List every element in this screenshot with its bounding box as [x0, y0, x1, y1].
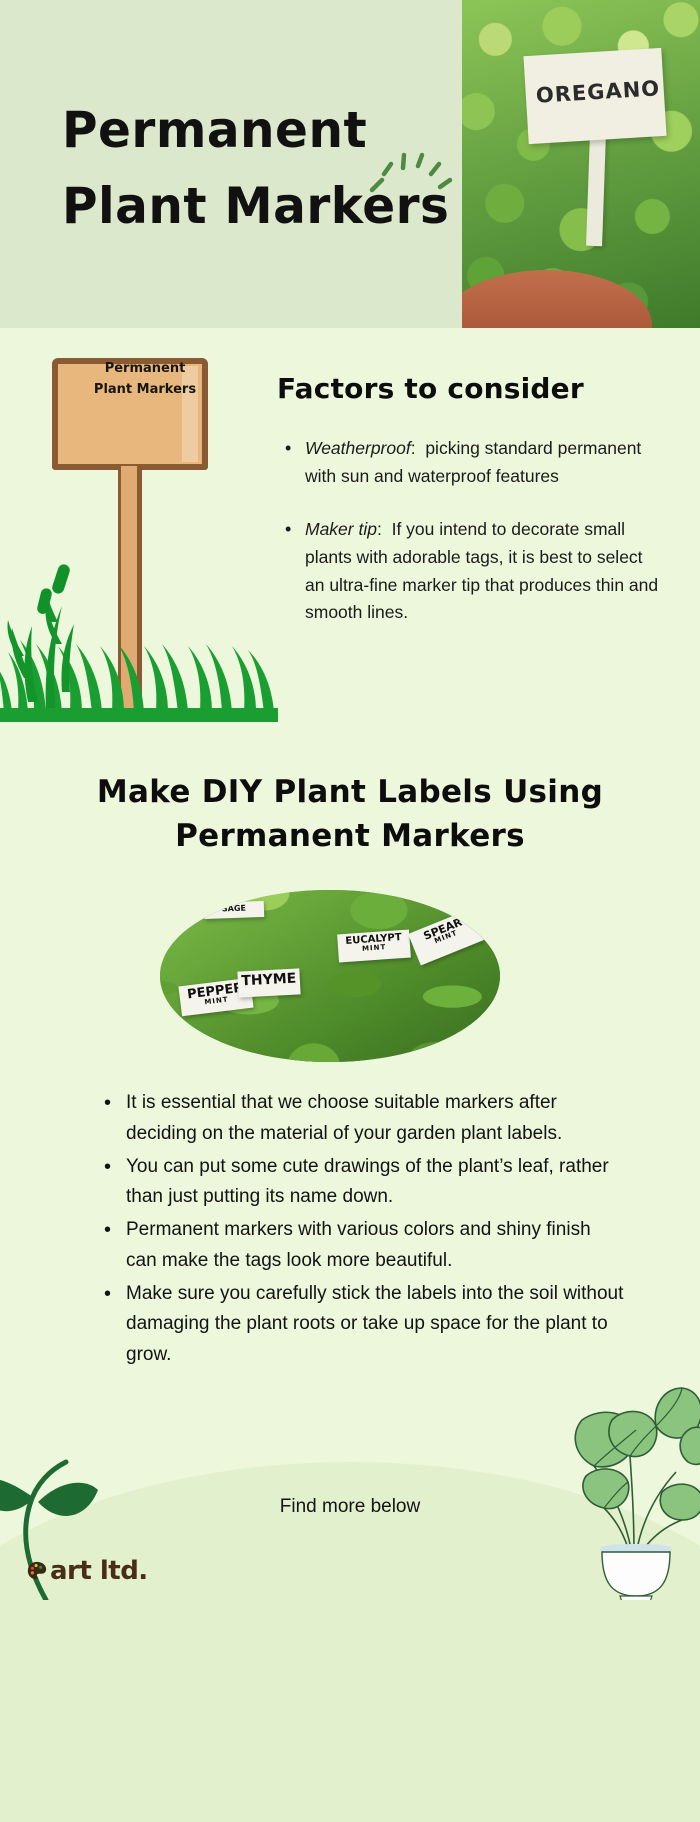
- page-title-line1: Permanent: [62, 101, 367, 159]
- grass-icon: [0, 552, 290, 722]
- tips-list: It is essential that we choose suitable …: [126, 1088, 626, 1373]
- factors-list: Weatherproof: picking standard permanent…: [277, 435, 677, 627]
- brand-logo-text: art ltd.: [50, 1556, 148, 1586]
- list-item: Permanent markers with various colors an…: [126, 1215, 626, 1277]
- marker-illustration: Permanent Plant Markers: [0, 330, 290, 722]
- list-item: It is essential that we choose suitable …: [126, 1088, 626, 1150]
- factor-term: Weatherproof: [305, 438, 411, 458]
- grass-baseline: [0, 708, 278, 722]
- plant-label-tag: EUCALYPT MINT: [337, 930, 411, 963]
- list-item: You can put some cute drawings of the pl…: [126, 1152, 626, 1214]
- page-title-line2: Plant Markers: [62, 168, 450, 244]
- factors-list-item: Maker tip: If you intend to decorate sma…: [305, 516, 665, 627]
- page-title: Permanent Plant Markers: [62, 92, 450, 244]
- plant-label-name: SAGE: [222, 904, 246, 914]
- factor-term: Maker tip: [305, 519, 377, 539]
- plant-label-tag: THYME: [237, 968, 300, 997]
- find-more-cta[interactable]: Find more below: [0, 1496, 700, 1518]
- diy-heading-line1: Make DIY Plant Labels Using: [60, 770, 640, 814]
- factors-section: Factors to consider Weatherproof: pickin…: [277, 372, 677, 653]
- brand-logo[interactable]: art ltd.: [26, 1554, 148, 1588]
- potted-monstera-icon: [560, 1330, 700, 1600]
- factors-list-item: Weatherproof: picking standard permanent…: [305, 435, 665, 490]
- factor-separator: :: [411, 438, 416, 458]
- diy-heading: Make DIY Plant Labels Using Permanent Ma…: [60, 770, 640, 858]
- factor-separator: :: [377, 519, 382, 539]
- wooden-sign-line1: Permanent: [0, 358, 290, 379]
- factors-heading: Factors to consider: [277, 372, 677, 405]
- plant-label-name: THYME: [241, 971, 297, 990]
- diy-heading-line2: Permanent Markers: [60, 814, 640, 858]
- plant-label-tag: SAGE: [204, 901, 265, 919]
- header-banner: Permanent Plant Markers OREGANO: [0, 0, 700, 328]
- list-item: Make sure you carefully stick the labels…: [126, 1279, 626, 1371]
- hero-photo: OREGANO: [462, 0, 700, 328]
- wooden-sign-text: Permanent Plant Markers: [0, 358, 290, 401]
- herb-garden-photo: SAGE EUCALYPT MINT SPEAR MINT PEPPER MIN…: [160, 890, 500, 1062]
- wooden-sign-line2: Plant Markers: [0, 379, 290, 400]
- palette-icon: [26, 1560, 48, 1582]
